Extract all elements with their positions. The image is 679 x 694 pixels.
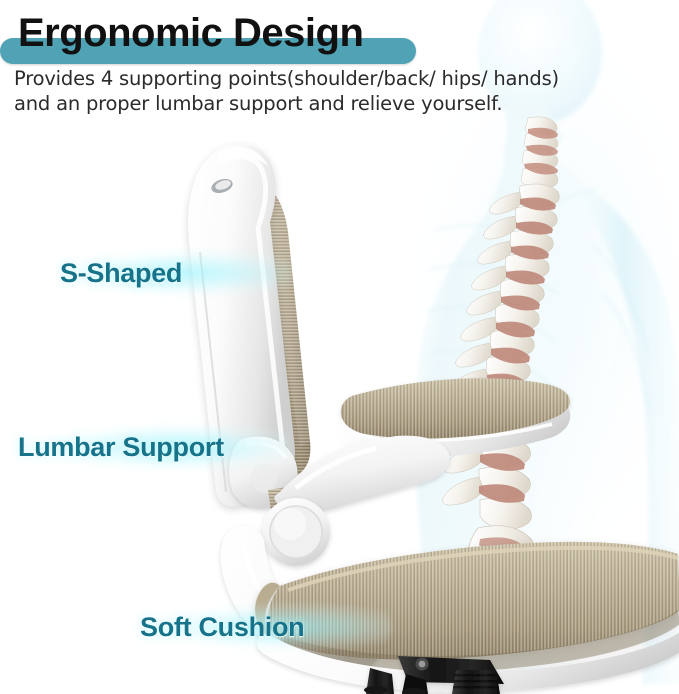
page-title: Ergonomic Design <box>18 8 363 58</box>
infographic-scene: Ergonomic Design Provides 4 supporting p… <box>0 0 679 694</box>
page-subtitle: Provides 4 supporting points(shoulder/ba… <box>14 66 574 116</box>
callout-label-s-shaped: S-Shaped <box>60 258 182 289</box>
callout-s-shaped: S-Shaped <box>24 236 304 310</box>
callout-label-lumbar-support: Lumbar Support <box>18 432 224 463</box>
callout-lumbar-support: Lumbar Support <box>2 410 302 484</box>
page-title-wrapper: Ergonomic Design <box>18 8 363 60</box>
callout-label-soft-cushion: Soft Cushion <box>140 612 304 643</box>
callout-soft-cushion: Soft Cushion <box>120 590 410 664</box>
subtitle-line-2: and an proper lumbar support and relieve… <box>14 91 574 116</box>
subtitle-line-1: Provides 4 supporting points(shoulder/ba… <box>14 66 574 91</box>
